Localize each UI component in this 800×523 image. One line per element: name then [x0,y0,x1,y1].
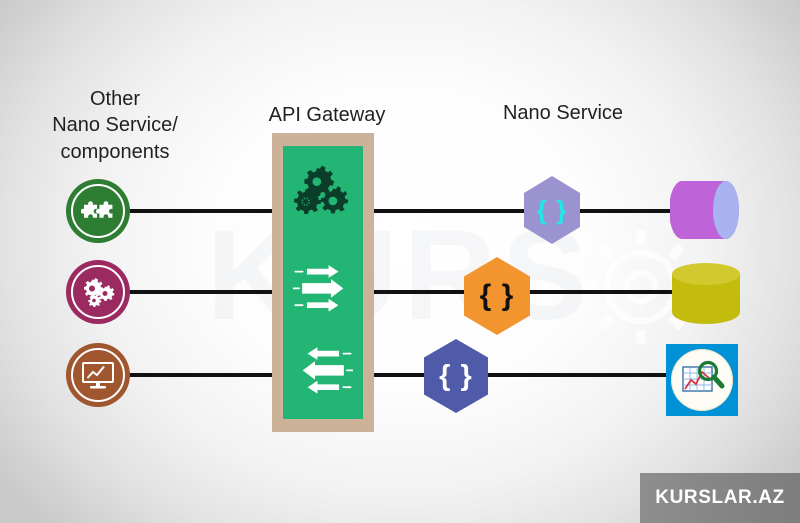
heading-nano-service: Nano Service [468,100,658,126]
analytics-disc [671,349,733,411]
database-purple[interactable] [670,179,740,246]
arrows-right-icon [283,254,363,324]
connector-row-3-left [128,373,278,377]
connector-row-3-right [486,373,670,377]
json-braces-icon: { } [480,281,515,311]
heading-api-gateway: API Gateway [232,102,422,128]
connector-row-2-right [530,290,676,294]
connector-row-3-mid [368,373,428,377]
puzzle-components-node[interactable] [66,179,130,243]
corner-watermark: KURSLAR.AZ [640,473,800,523]
json-braces-icon: { } [439,362,473,391]
gears-service-node[interactable] [66,260,130,324]
connector-row-2-left [128,290,278,294]
cylinder-vertical-icon [670,262,742,324]
nano-service-2[interactable]: { } [464,257,530,335]
analytics-search[interactable] [666,344,738,416]
gears-icon [80,277,116,307]
api-gateway-panel [283,146,363,419]
puzzle-icon [81,198,115,224]
database-yellow[interactable] [670,262,742,329]
arrows-left-icon [283,336,363,406]
chart-magnifier-icon [678,358,726,402]
nano-service-1[interactable]: { } [524,176,580,244]
connector-row-1-left [128,209,278,213]
json-braces-icon: { } [537,197,567,223]
heading-other-nano-service: Other Nano Service/ components [20,86,210,165]
corner-watermark-label: KURSLAR.AZ [655,487,785,509]
cylinder-horizontal-icon [670,179,740,241]
monitor-chart-icon [80,359,116,391]
connector-row-1-right [572,209,676,213]
connector-row-2-mid [368,290,473,294]
diagram-canvas: KURS Other Nano Service/ components [0,0,800,523]
gears-icon [283,154,363,238]
nano-service-3[interactable]: { } [424,339,488,413]
connector-row-1-mid [368,209,533,213]
monitoring-node[interactable] [66,343,130,407]
api-gateway-container[interactable] [272,133,374,432]
